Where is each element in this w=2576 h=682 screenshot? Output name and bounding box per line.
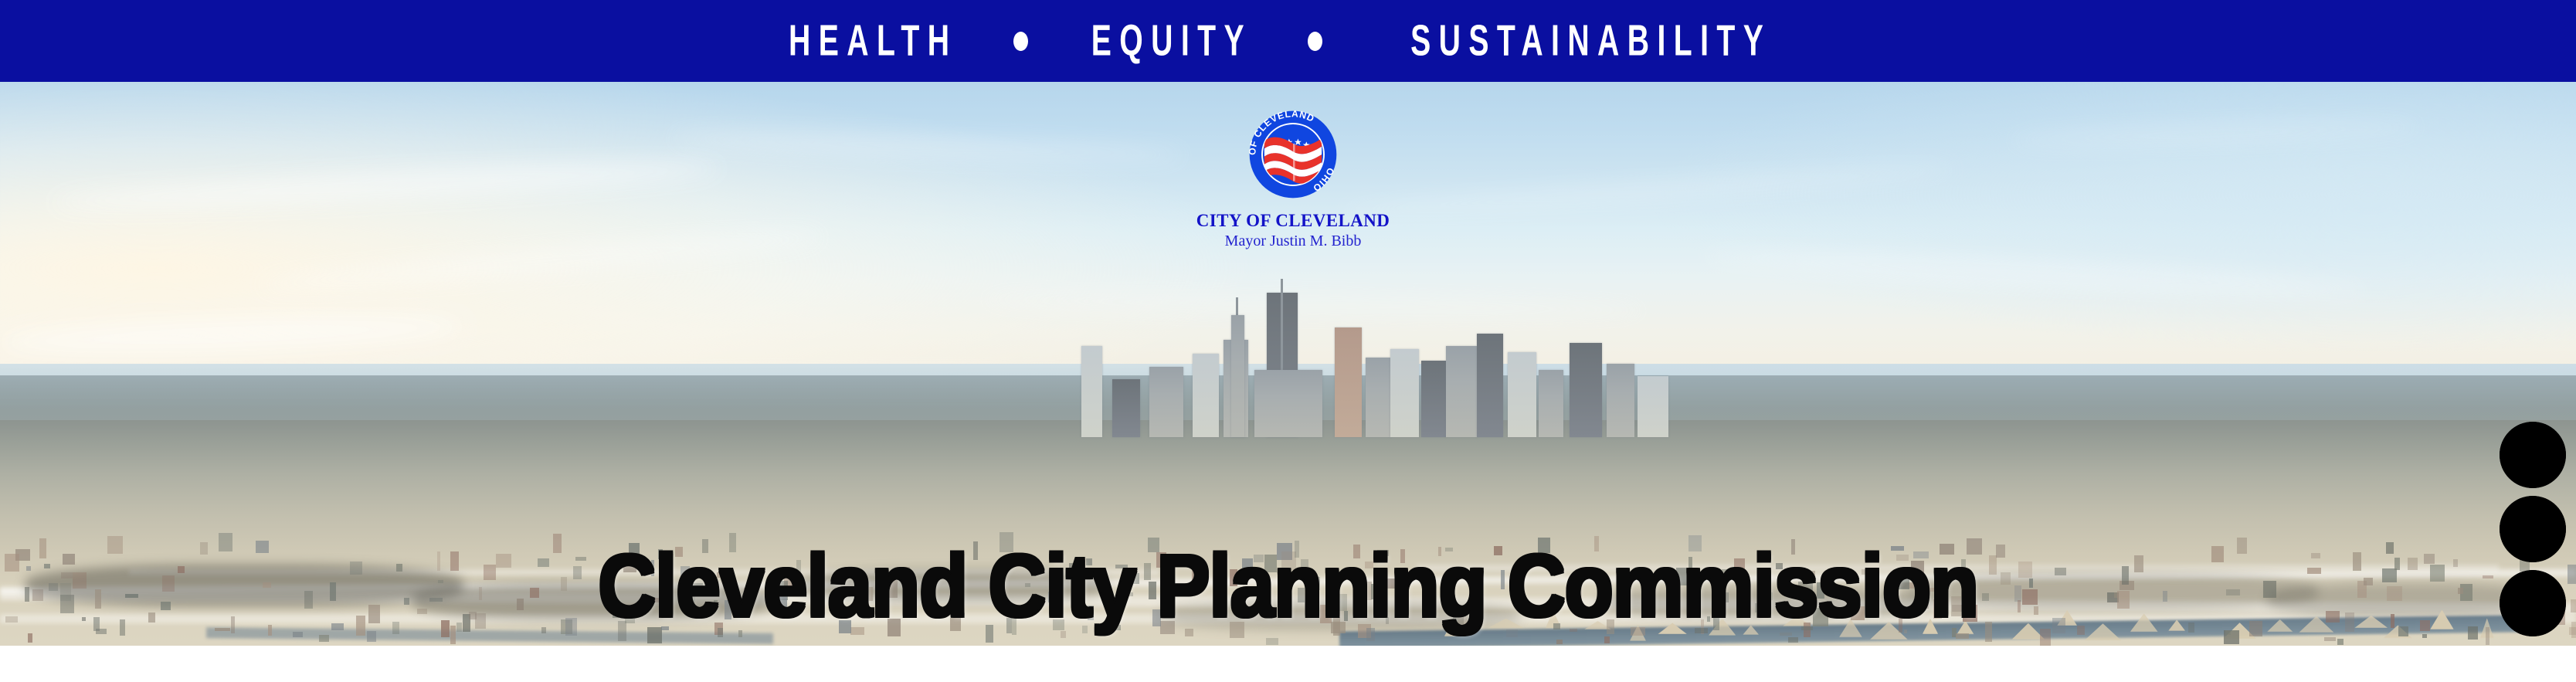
building-block xyxy=(367,631,376,642)
skyline-tower xyxy=(1607,364,1634,437)
tagline-banner: HEALTH EQUITY SUSTAINABILITY xyxy=(0,0,2576,82)
instagram-icon xyxy=(2500,496,2566,562)
building-block xyxy=(2040,629,2051,646)
skyline-tower xyxy=(1081,346,1102,437)
building-block xyxy=(2422,634,2427,639)
bottom-white-strip xyxy=(0,646,2576,682)
skyline-tower xyxy=(1193,354,1219,437)
terminal-tower xyxy=(1231,315,1245,437)
skyline-tower xyxy=(1421,361,1446,437)
instagram-link[interactable] xyxy=(2500,496,2566,562)
skyline-tower xyxy=(1508,352,1536,437)
building-block xyxy=(2337,639,2344,645)
building-block xyxy=(2324,637,2336,641)
building-block xyxy=(2225,630,2231,635)
building-block xyxy=(28,633,32,643)
skyline-tower xyxy=(1477,334,1503,437)
tagline-banner-inner: HEALTH EQUITY SUSTAINABILITY xyxy=(759,22,1817,60)
skyline-tower xyxy=(1539,370,1563,437)
building-block xyxy=(1604,636,1610,644)
tagline-word-health: HEALTH xyxy=(781,19,958,63)
building-block xyxy=(1556,640,1562,644)
skyline-tower xyxy=(1638,376,1668,437)
page-title: Cleveland City Planning Commission xyxy=(0,542,2576,630)
tagline-word-equity: EQUITY xyxy=(1084,19,1253,63)
youtube-link[interactable] xyxy=(2500,422,2566,488)
tagline-word-sustainability: SUSTAINABILITY xyxy=(1402,19,1771,63)
building-block xyxy=(1266,638,1278,645)
skyline-podium xyxy=(1254,370,1322,437)
social-media-rail xyxy=(2496,422,2570,636)
building-block xyxy=(1788,637,1797,643)
skyline-tower xyxy=(1446,346,1477,437)
skyline-tower xyxy=(1570,343,1602,437)
youtube-icon xyxy=(2500,422,2566,488)
building-block xyxy=(319,635,329,643)
facebook-link[interactable] xyxy=(2500,570,2566,636)
skyline-tower xyxy=(1112,379,1140,437)
bullet-dot-icon xyxy=(1308,32,1322,51)
skyline-tower xyxy=(1390,349,1419,437)
skyline-tower xyxy=(1366,358,1390,436)
hero-banner: CITY OF CLEVELAND OHIO xyxy=(0,82,2576,646)
200-public-square xyxy=(1335,327,1362,437)
building-block xyxy=(293,632,303,637)
skyline-tower xyxy=(1149,367,1183,437)
page-root: HEALTH EQUITY SUSTAINABILITY xyxy=(0,0,2576,682)
bullet-dot-icon xyxy=(1013,32,1028,51)
facebook-icon xyxy=(2500,570,2566,636)
downtown-skyline xyxy=(1069,285,1687,437)
